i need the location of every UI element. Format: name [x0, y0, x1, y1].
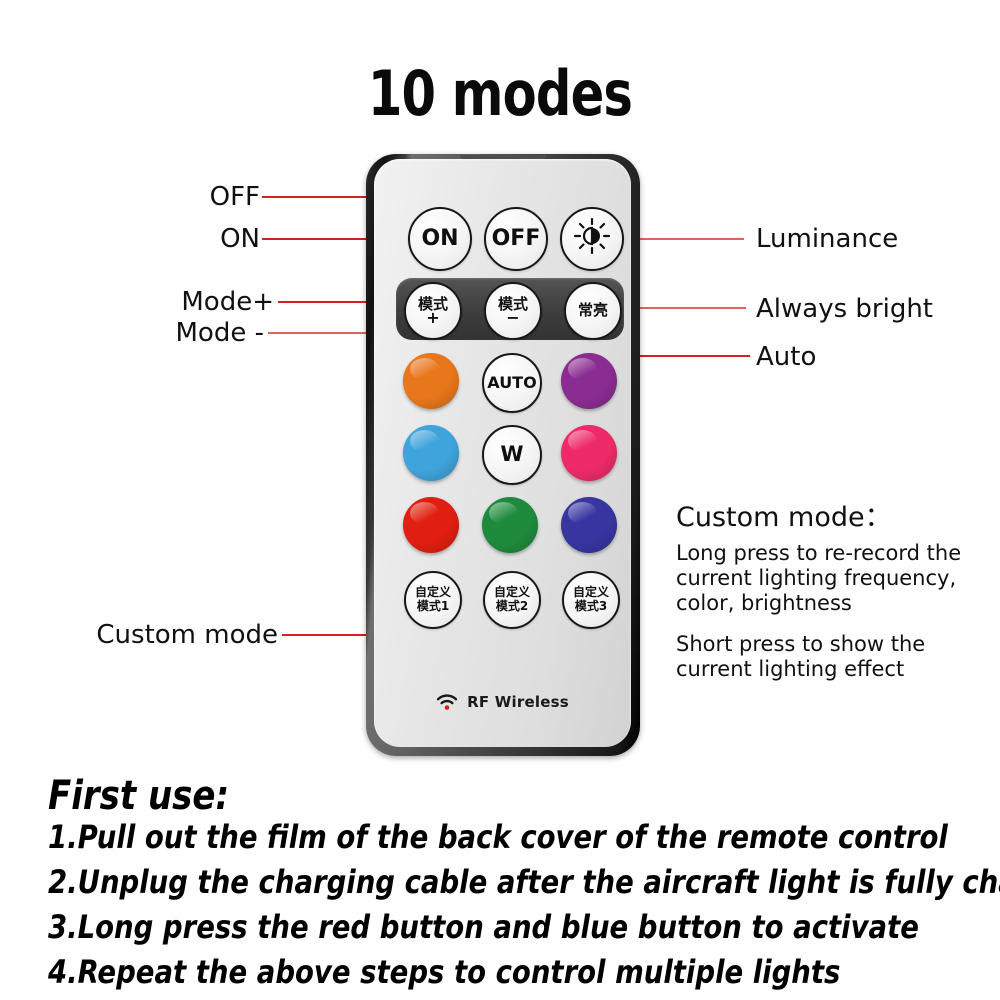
button-color-purple[interactable] [561, 353, 617, 409]
custom-mode-heading: Custom mode： [676, 495, 892, 534]
button-on[interactable]: ON [408, 207, 472, 271]
wifi-icon [436, 694, 458, 711]
callout-custom-mode: Custom mode [20, 620, 278, 650]
button-always-bright-label: 常亮 [578, 303, 608, 318]
page-title: 10 modes [100, 57, 900, 130]
button-mode-minus-sign: − [506, 311, 519, 325]
brightness-icon [572, 216, 612, 261]
button-custom-1-line2: 模式1 [417, 600, 449, 614]
button-auto-label: AUTO [487, 375, 536, 391]
remote-control-device: ON OFF [366, 154, 640, 756]
button-luminance[interactable] [560, 207, 624, 271]
callout-on: ON [62, 224, 260, 254]
callout-auto: Auto [756, 342, 816, 372]
rf-wireless-label: RF Wireless [467, 693, 569, 711]
button-off-label: OFF [492, 228, 541, 250]
button-mode-plus-sign: + [426, 311, 439, 325]
first-use-step: 1.Pull out the film of the back cover of… [48, 818, 874, 856]
remote-faceplate: ON OFF [374, 159, 631, 747]
button-custom-3[interactable]: 自定义 模式3 [562, 571, 620, 629]
button-off[interactable]: OFF [484, 207, 548, 271]
button-color-green[interactable] [482, 497, 538, 553]
rf-wireless-branding: RF Wireless [374, 693, 631, 711]
button-custom-1[interactable]: 自定义 模式1 [404, 571, 462, 629]
custom-mode-paragraph-1: Long press to re-record the current ligh… [676, 541, 976, 615]
button-mode-plus[interactable]: 模式 + [404, 282, 462, 340]
button-color-orange[interactable] [403, 353, 459, 409]
callout-luminance: Luminance [756, 224, 898, 254]
button-color-pink[interactable] [561, 425, 617, 481]
button-auto[interactable]: AUTO [482, 353, 542, 413]
button-custom-2-line1: 自定义 [494, 586, 530, 600]
button-on-label: ON [421, 228, 458, 250]
button-mode-minus[interactable]: 模式 − [484, 282, 542, 340]
custom-mode-paragraph-2: Short press to show the current lighting… [676, 632, 966, 682]
button-custom-2[interactable]: 自定义 模式2 [483, 571, 541, 629]
callout-always-bright: Always bright [756, 294, 933, 324]
button-color-red[interactable] [403, 497, 459, 553]
first-use-step: 3.Long press the red button and blue but… [48, 908, 874, 946]
button-color-light-blue[interactable] [403, 425, 459, 481]
button-custom-3-line1: 自定义 [573, 586, 609, 600]
first-use-steps: 1.Pull out the film of the back cover of… [48, 818, 1000, 998]
callout-mode-plus: Mode+ [40, 287, 274, 317]
infographic-root: 10 modes OFF ON Mode+ Mode - Luminance A… [0, 0, 1000, 1000]
callout-mode-minus: Mode - [40, 318, 264, 348]
button-color-white[interactable]: W [482, 425, 542, 485]
first-use-step: 2.Unplug the charging cable after the ai… [48, 863, 874, 901]
callout-off: OFF [62, 182, 260, 212]
button-custom-1-line1: 自定义 [415, 586, 451, 600]
first-use-heading: First use: [48, 773, 229, 819]
button-always-bright[interactable]: 常亮 [564, 282, 622, 340]
button-custom-2-line2: 模式2 [496, 600, 528, 614]
button-color-white-label: W [500, 444, 523, 465]
button-color-indigo[interactable] [561, 497, 617, 553]
first-use-step: 4.Repeat the above steps to control mult… [48, 953, 874, 991]
button-custom-3-line2: 模式3 [575, 600, 607, 614]
